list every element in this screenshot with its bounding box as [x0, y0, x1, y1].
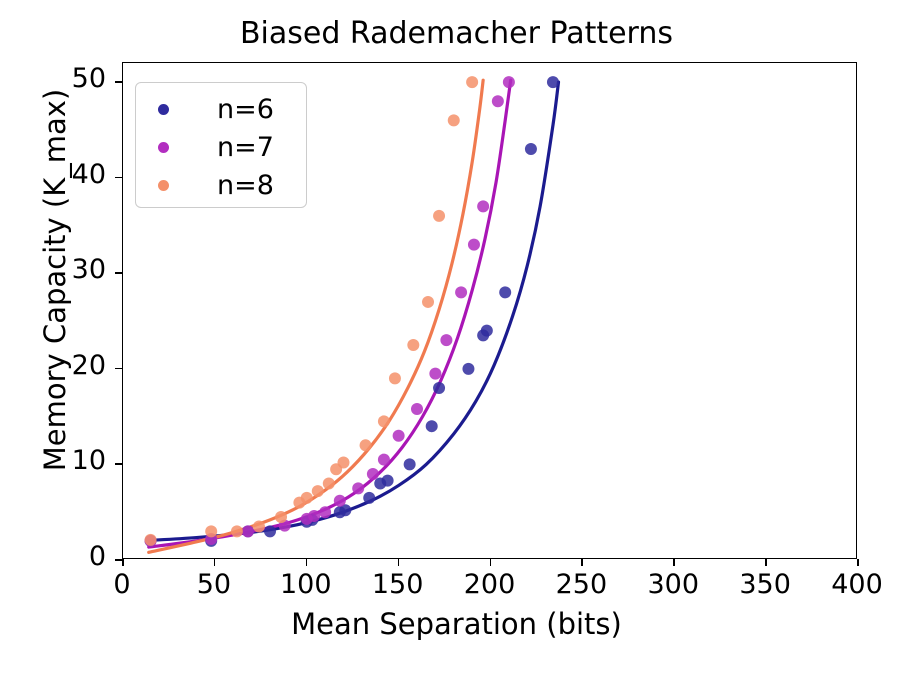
- data-point: [389, 372, 401, 384]
- data-point: [360, 439, 372, 451]
- x-tick-mark: [857, 559, 859, 566]
- x-tick-label: 200: [445, 569, 535, 600]
- x-axis-label: Mean Separation (bits): [0, 607, 913, 641]
- legend-label: n=8: [217, 172, 274, 199]
- x-tick-mark: [581, 559, 583, 566]
- data-point: [363, 492, 375, 504]
- y-tick-mark: [115, 463, 122, 465]
- y-tick-mark: [115, 177, 122, 179]
- x-tick-mark: [122, 559, 124, 566]
- data-point: [367, 468, 379, 480]
- figure-canvas: Biased Rademacher Patterns 0501001502002…: [0, 0, 913, 685]
- x-tick-mark: [214, 559, 216, 566]
- data-point: [422, 296, 434, 308]
- x-tick-mark: [490, 559, 492, 566]
- legend-item-n8[interactable]: n=8: [136, 166, 306, 204]
- data-point: [462, 363, 474, 375]
- x-tick-mark: [673, 559, 675, 566]
- data-point: [481, 325, 493, 337]
- data-point: [378, 454, 390, 466]
- legend-marker-icon: [158, 104, 169, 115]
- data-point: [393, 430, 405, 442]
- x-tick-label: 0: [77, 569, 167, 600]
- data-point: [334, 495, 346, 507]
- data-point: [301, 492, 313, 504]
- data-point: [407, 339, 419, 351]
- data-point: [433, 382, 445, 394]
- x-tick-label: 100: [261, 569, 351, 600]
- data-point: [468, 239, 480, 251]
- x-tick-label: 50: [169, 569, 259, 600]
- x-tick-label: 400: [812, 569, 902, 600]
- data-point: [145, 534, 157, 546]
- x-tick-label: 250: [536, 569, 626, 600]
- data-point: [404, 458, 416, 470]
- y-tick-mark: [115, 272, 122, 274]
- data-point: [308, 510, 320, 522]
- data-point: [440, 334, 452, 346]
- data-point: [378, 415, 390, 427]
- data-point: [499, 286, 511, 298]
- data-point: [466, 76, 478, 88]
- x-tick-mark: [765, 559, 767, 566]
- data-point: [525, 143, 537, 155]
- data-point: [426, 420, 438, 432]
- data-point: [319, 506, 331, 518]
- legend-label: n=7: [217, 134, 274, 161]
- data-point: [253, 521, 265, 533]
- y-axis-label: Memory Capacity (K_max): [38, 20, 72, 540]
- x-tick-label: 350: [720, 569, 810, 600]
- x-tick-label: 150: [353, 569, 443, 600]
- data-point: [503, 76, 515, 88]
- page-title: Biased Rademacher Patterns: [0, 16, 913, 51]
- legend-item-n7[interactable]: n=7: [136, 128, 306, 166]
- data-point: [455, 286, 467, 298]
- data-point: [433, 210, 445, 222]
- data-point: [323, 478, 335, 490]
- legend-label: n=6: [217, 96, 274, 123]
- data-point: [547, 76, 559, 88]
- x-tick-label: 300: [628, 569, 718, 600]
- data-point: [448, 114, 460, 126]
- legend-item-n6[interactable]: n=6: [136, 90, 306, 128]
- data-point: [312, 485, 324, 497]
- legend: n=6n=7n=8: [135, 82, 307, 208]
- data-point: [242, 525, 254, 537]
- data-point: [352, 482, 364, 494]
- data-point: [429, 368, 441, 380]
- legend-marker-icon: [158, 180, 169, 191]
- y-tick-mark: [115, 81, 122, 83]
- data-point: [205, 525, 217, 537]
- x-tick-mark: [398, 559, 400, 566]
- data-point: [338, 457, 350, 469]
- y-tick-mark: [115, 559, 122, 561]
- data-point: [264, 525, 276, 537]
- data-point: [411, 403, 423, 415]
- data-point: [477, 200, 489, 212]
- data-point: [275, 511, 287, 523]
- data-point: [382, 475, 394, 487]
- x-tick-mark: [306, 559, 308, 566]
- legend-marker-icon: [158, 142, 169, 153]
- y-tick-mark: [115, 368, 122, 370]
- data-point: [231, 525, 243, 537]
- data-point: [492, 95, 504, 107]
- y-tick-label: 0: [36, 541, 106, 572]
